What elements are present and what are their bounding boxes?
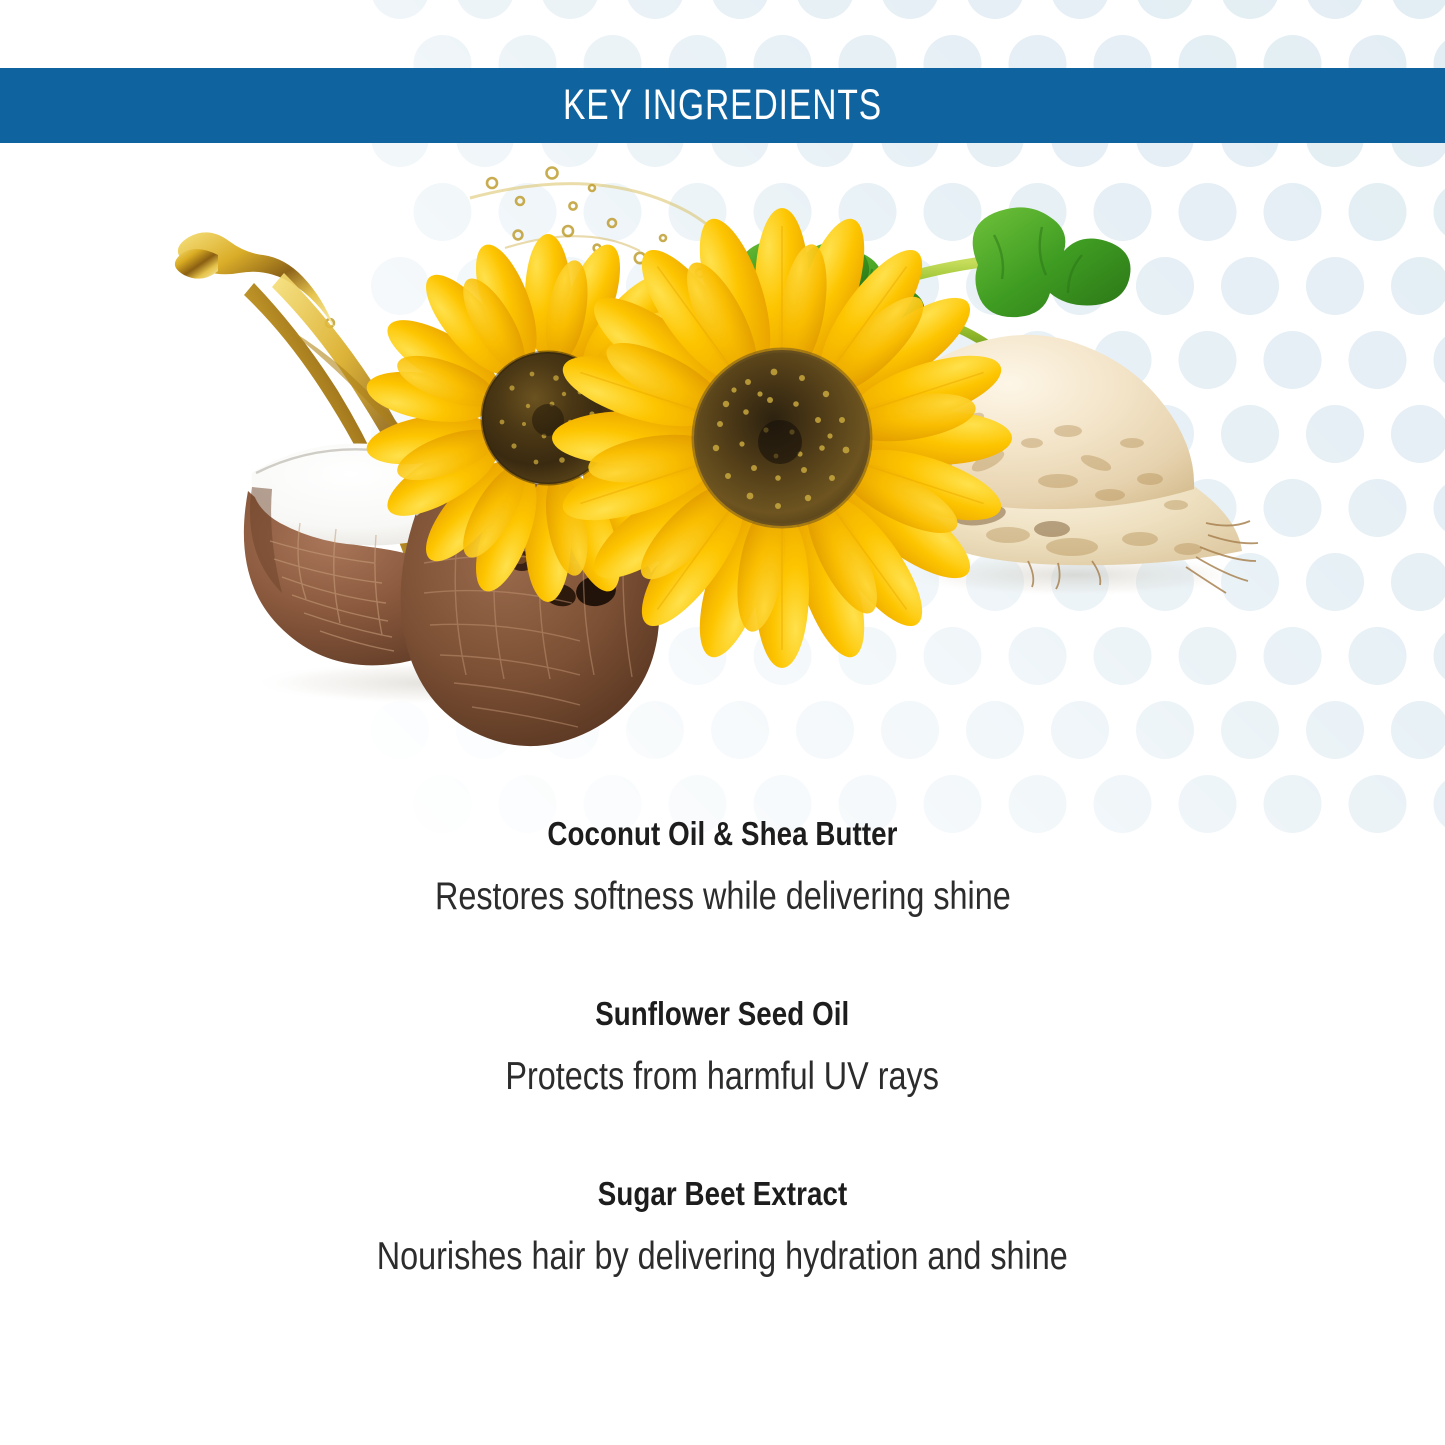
ingredient-item-coconut-oil-shea-butter: Coconut Oil & Shea Butter Restores softn… <box>0 815 1445 919</box>
ingredient-description: Restores softness while delivering shine <box>435 875 1011 919</box>
ingredient-description: Protects from harmful UV rays <box>506 1055 940 1099</box>
ingredient-description: Nourishes hair by delivering hydration a… <box>377 1235 1068 1279</box>
ingredient-item-sugar-beet-extract: Sugar Beet Extract Nourishes hair by del… <box>0 1175 1445 1279</box>
ingredient-item-sunflower-seed-oil: Sunflower Seed Oil Protects from harmful… <box>0 995 1445 1099</box>
ingredient-name: Coconut Oil & Shea Butter <box>547 815 897 853</box>
key-ingredients-banner: KEY INGREDIENTS <box>0 68 1445 143</box>
ingredient-name: Sugar Beet Extract <box>598 1175 848 1213</box>
ingredients-hero-image <box>0 143 1445 803</box>
ingredient-name: Sunflower Seed Oil <box>595 995 849 1033</box>
banner-title: KEY INGREDIENTS <box>563 81 882 130</box>
ingredient-list: Coconut Oil & Shea Butter Restores softn… <box>0 815 1445 1279</box>
